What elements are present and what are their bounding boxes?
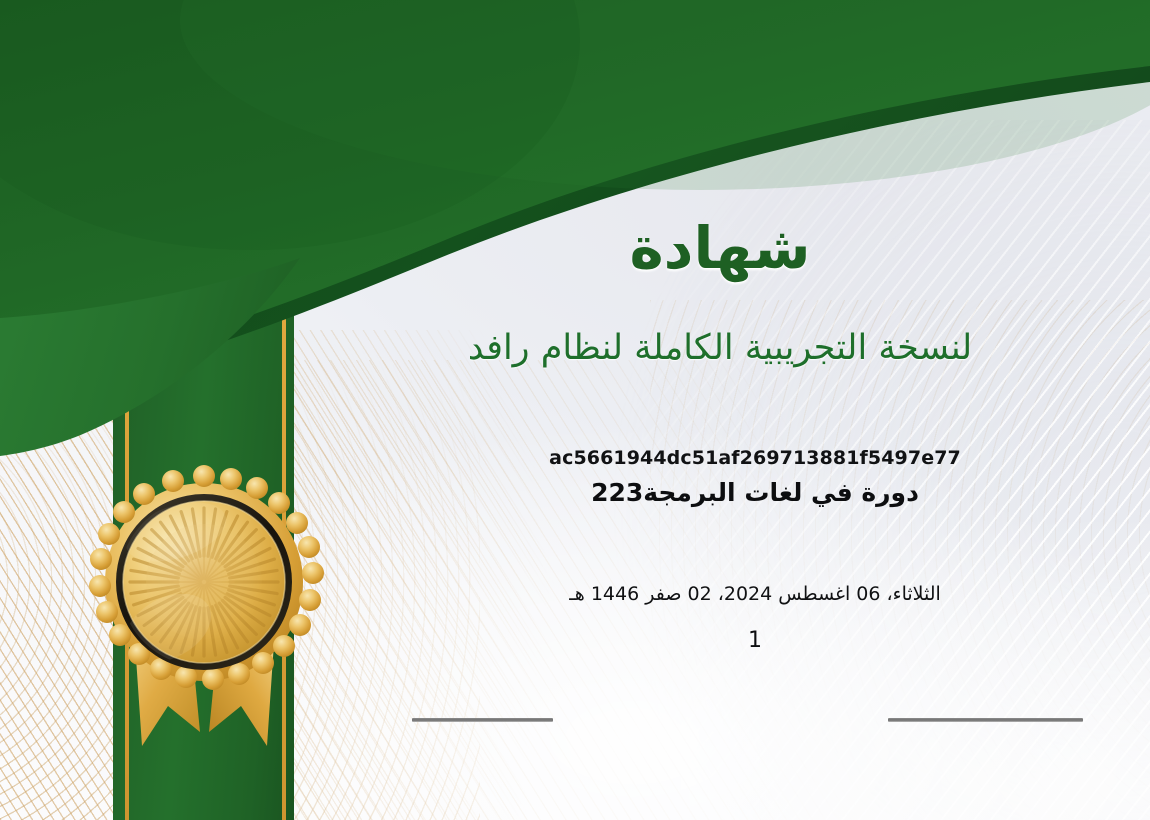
page-title: شهادة: [340, 218, 1100, 279]
certificate-subtitle: لنسخة التجريبية الكاملة لنظام رافد: [340, 327, 1100, 371]
course-name: دورة في لغات البرمجة223: [355, 478, 1150, 507]
issue-date: الثلاثاء، 06 اغسطس 2024، 02 صفر 1446 هـ: [355, 583, 1150, 605]
serial-number: 1: [355, 628, 1150, 653]
verification-hash: ac5661944dc51af269713881f5497e77: [355, 447, 1150, 469]
gold-award-medal: [72, 460, 337, 760]
signature-line-right: [888, 718, 1083, 722]
certificate-canvas: شهادة لنسخة التجريبية الكاملة لنظام رافد…: [0, 0, 1150, 820]
signature-line-left: [412, 718, 553, 722]
